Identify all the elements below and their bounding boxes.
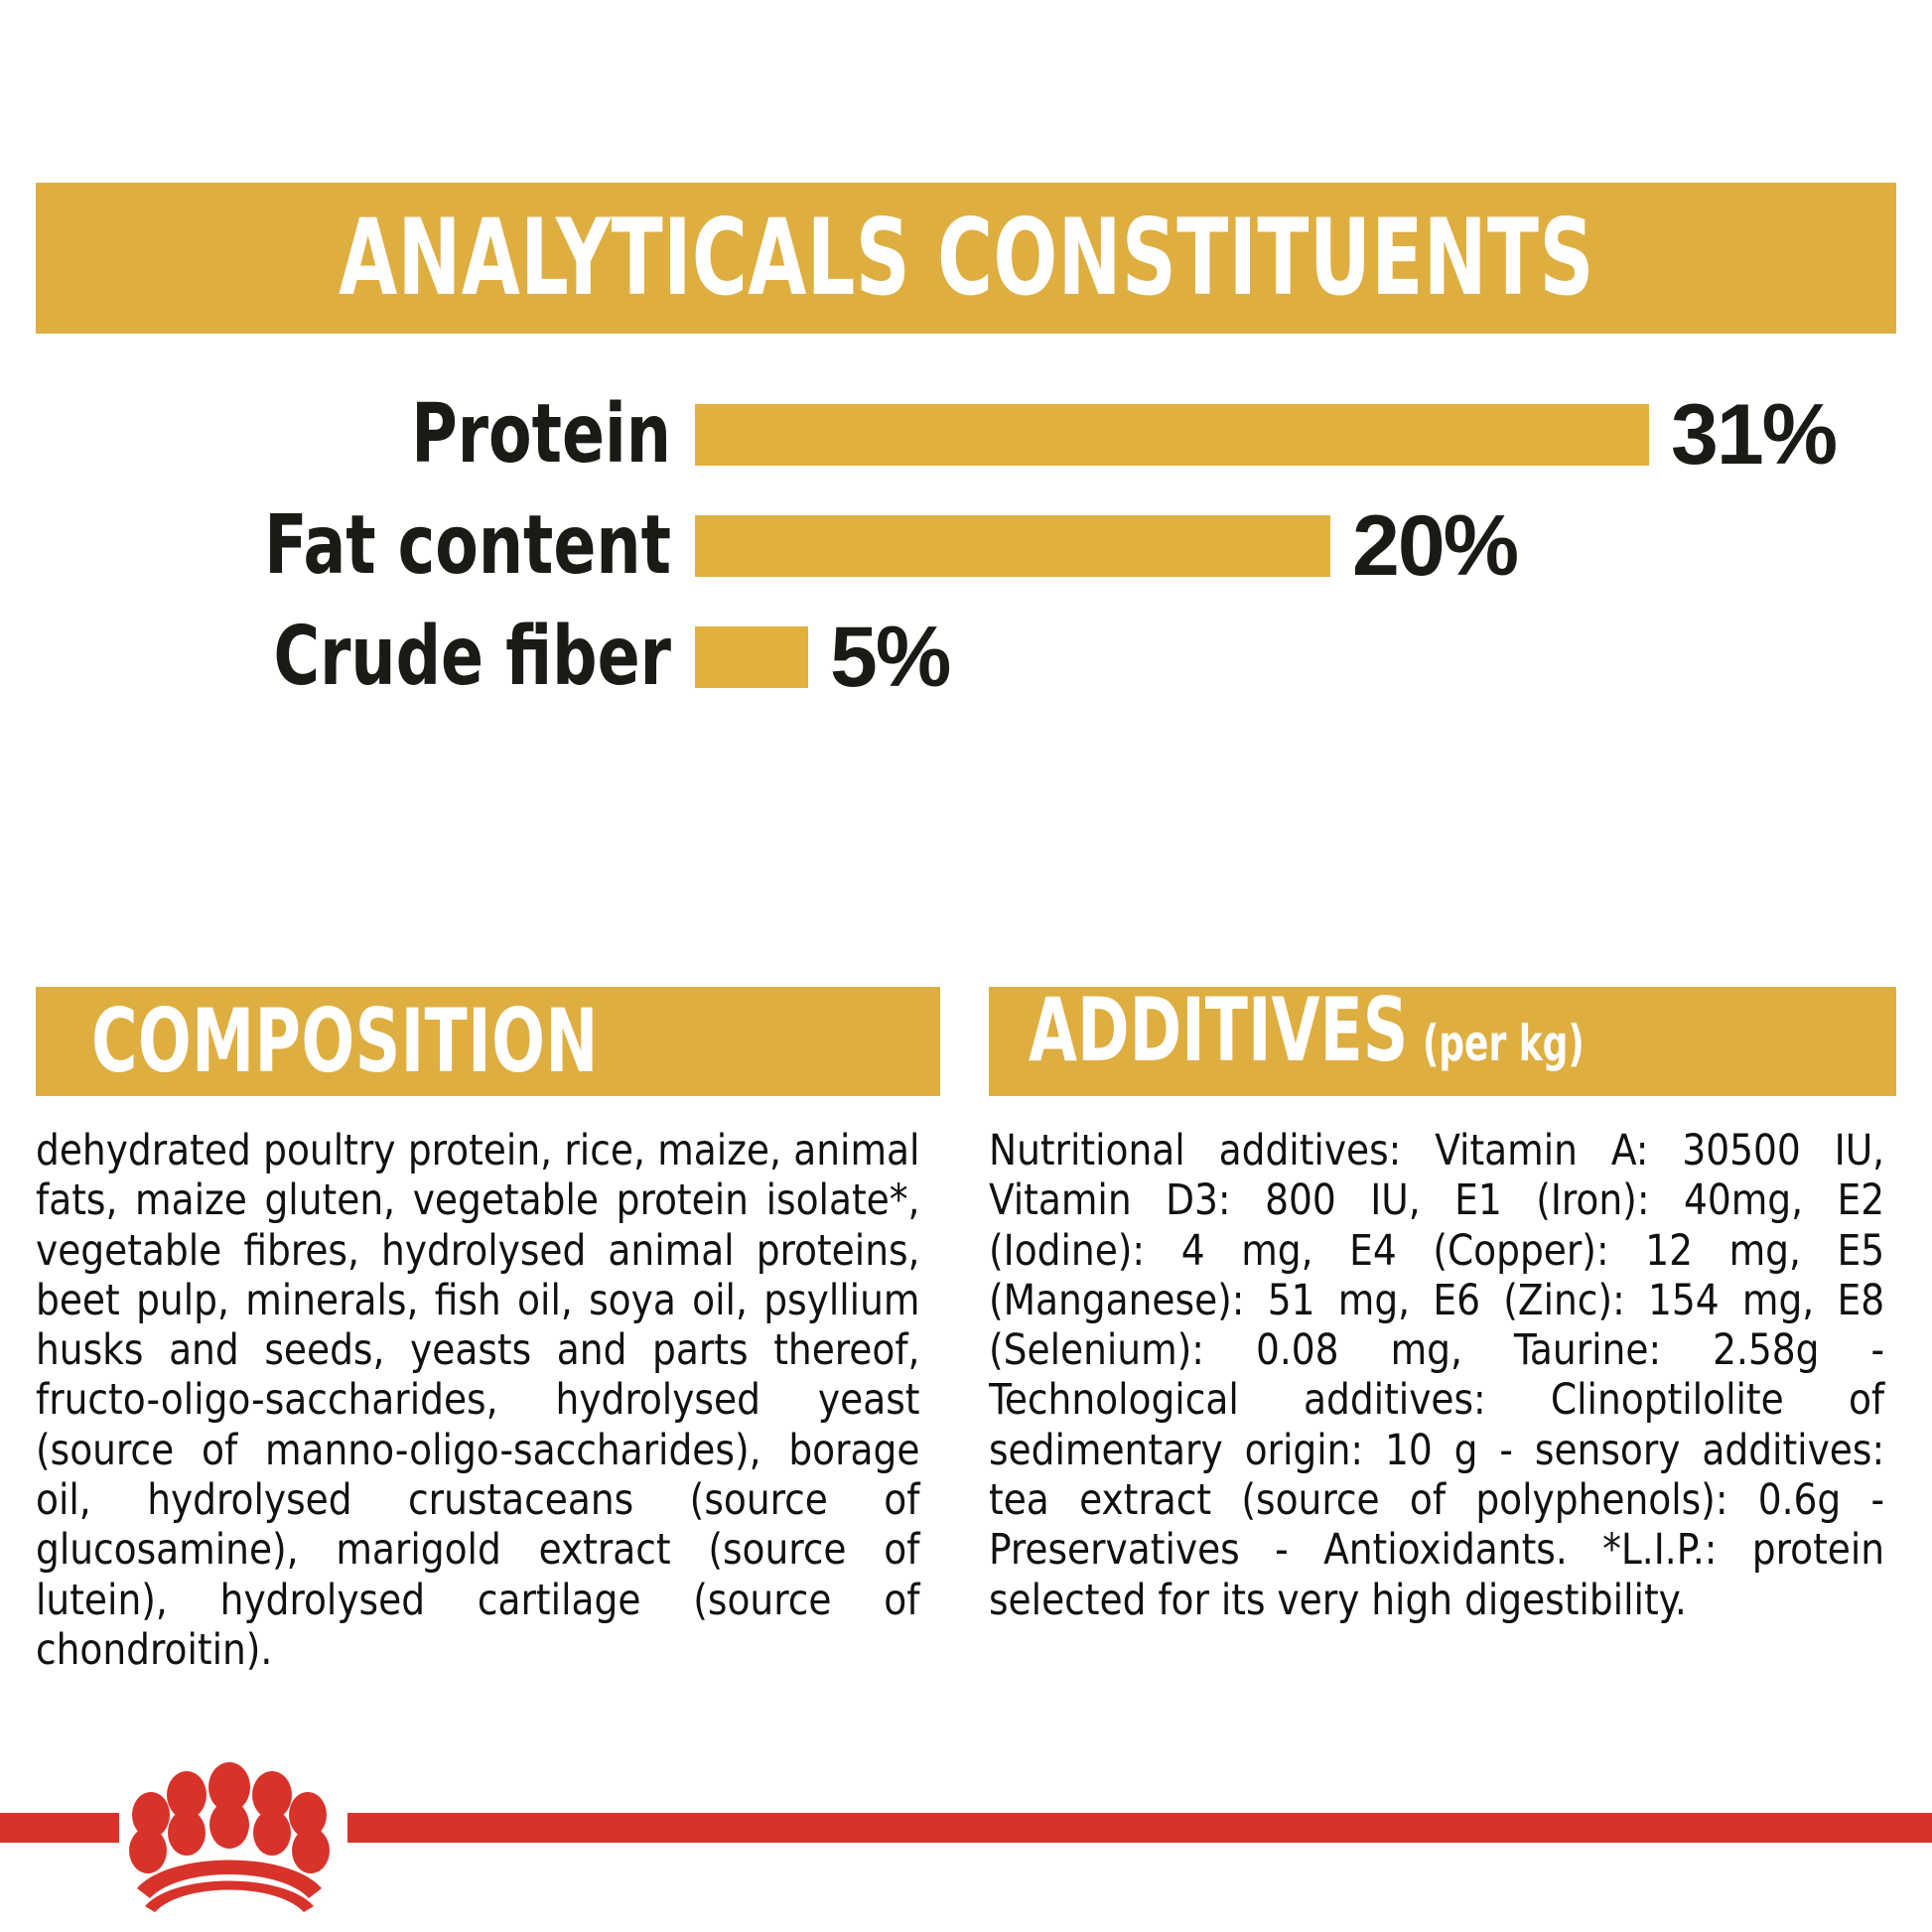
additives-banner: ADDITIVES (per kg) bbox=[989, 987, 1896, 1096]
additives-heading: ADDITIVES bbox=[1029, 987, 1408, 1074]
bar-label-protein: Protein bbox=[97, 394, 695, 476]
footer bbox=[0, 1747, 1932, 1932]
bar-label-fat-content: Fat content bbox=[97, 505, 695, 587]
additives-heading-group: ADDITIVES (per kg) bbox=[1029, 987, 1585, 1074]
bar-value-protein: 31% bbox=[1671, 392, 1836, 478]
analyticals-constituents-banner: ANALYTICALS CONSTITUENTS bbox=[36, 183, 1896, 334]
bar-row-crude-fiber: Crude fiber 5% bbox=[0, 606, 1932, 709]
footer-rule-left bbox=[0, 1813, 119, 1843]
composition-banner: COMPOSITION bbox=[36, 987, 940, 1096]
bar-row-fat-content: Fat content 20% bbox=[0, 494, 1932, 598]
bar-fill-crude-fiber bbox=[695, 626, 808, 688]
additives-text: Nutritional additives: Vitamin A: 30500 … bbox=[989, 1126, 1884, 1625]
bar-track-crude-fiber: 5% bbox=[695, 606, 1932, 709]
additives-heading-suffix: (per kg) bbox=[1423, 1019, 1585, 1068]
bar-fill-fat-content bbox=[695, 515, 1330, 577]
analyticals-heading: ANALYTICALS CONSTITUENTS bbox=[339, 206, 1594, 311]
bar-label-crude-fiber: Crude fiber bbox=[97, 617, 695, 698]
bar-fill-protein bbox=[695, 404, 1649, 466]
bar-track-fat-content: 20% bbox=[695, 494, 1932, 598]
footer-rule-right bbox=[347, 1813, 1932, 1843]
bar-track-protein: 31% bbox=[695, 383, 1932, 486]
nutrition-label-page: ANALYTICALS CONSTITUENTS Protein 31% Fat… bbox=[0, 0, 1932, 1932]
bar-row-protein: Protein 31% bbox=[0, 383, 1932, 486]
composition-heading: COMPOSITION bbox=[91, 998, 599, 1085]
bar-value-fat-content: 20% bbox=[1352, 503, 1517, 589]
royal-canin-crown-icon bbox=[125, 1753, 334, 1912]
analyticals-bar-chart: Protein 31% Fat content 20% Crude fiber … bbox=[0, 383, 1932, 711]
bar-value-crude-fiber: 5% bbox=[830, 615, 949, 700]
composition-text: dehydrated poultry protein, rice, maize,… bbox=[36, 1126, 919, 1675]
